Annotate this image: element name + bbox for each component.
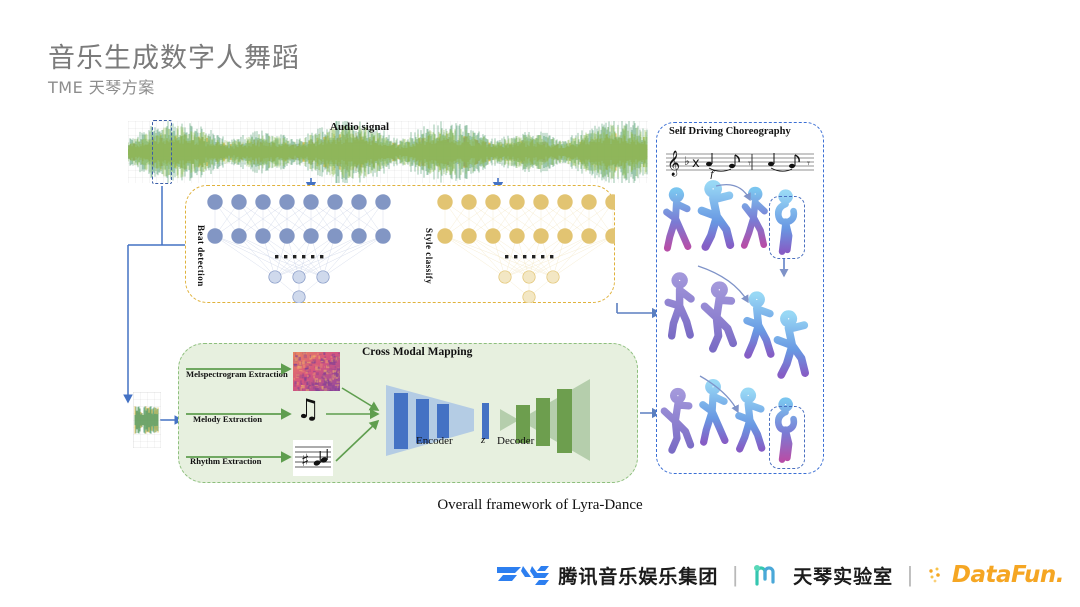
svg-text:f: f: [709, 170, 716, 179]
page-subtitle: TME 天琴方案: [48, 74, 155, 98]
svg-text:𝄾: 𝄾: [807, 157, 810, 170]
highlighted-pose-bottom[interactable]: [769, 406, 805, 469]
latent-variable-label: z: [481, 434, 485, 446]
tme-logo-icon: [495, 564, 551, 586]
footer: 腾讯音乐娱乐集团 | 天琴实验室 | DataFun.: [0, 553, 1080, 597]
waveform-selection-box[interactable]: [152, 120, 172, 184]
datafun-dots-icon: [927, 565, 945, 585]
choreography-title: Self Driving Choreography: [669, 126, 791, 137]
footer-separator-2: |: [907, 562, 913, 588]
audio-clip-thumbnail: [133, 392, 161, 448]
lyra-lab-logo-group: 天琴实验室: [752, 562, 893, 589]
nn-diagrams: [185, 185, 615, 303]
connector-arrows: [0, 0, 1080, 607]
highlighted-pose-top[interactable]: [769, 196, 805, 259]
autoencoder-diagram: [178, 343, 638, 483]
framework-caption: Overall framework of Lyra-Dance: [0, 497, 1080, 514]
lyra-lab-logo-icon: [752, 562, 786, 588]
svg-text:x: x: [692, 156, 700, 171]
music-score-icon: 𝄞 ♭ x 𝄾 𝄾 f: [664, 145, 816, 179]
svg-text:♭: ♭: [684, 154, 690, 168]
datafun-logo-text: DataFun.: [952, 562, 1064, 588]
decoder-label: Decoder: [497, 435, 534, 447]
encoder-label: Encoder: [416, 435, 453, 447]
lyra-lab-logo-text: 天琴实验室: [793, 562, 893, 589]
audio-signal-label: Audio signal: [330, 121, 389, 133]
svg-text:𝄞: 𝄞: [667, 150, 680, 176]
tme-logo-text: 腾讯音乐娱乐集团: [558, 562, 718, 589]
footer-separator-1: |: [732, 562, 738, 588]
datafun-logo-group: DataFun.: [927, 562, 1064, 588]
page-title: 音乐生成数字人舞蹈: [48, 36, 300, 75]
svg-text:𝄾: 𝄾: [748, 157, 751, 170]
tme-logo-group: 腾讯音乐娱乐集团: [495, 562, 718, 589]
